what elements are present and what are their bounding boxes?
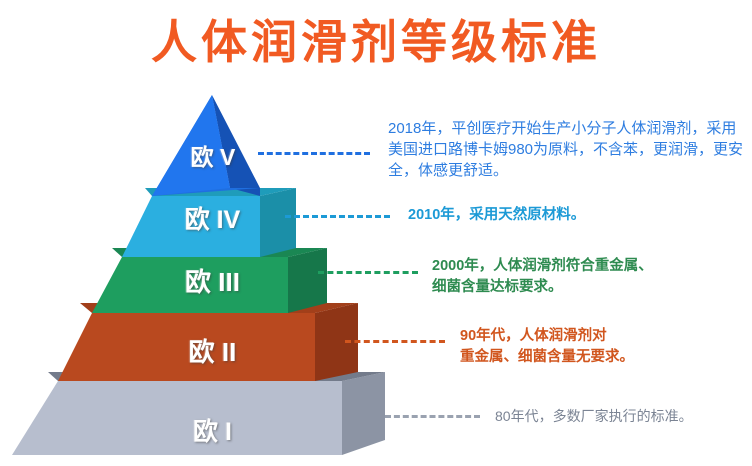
annotation-tier-4: 2010年，采用天然原材料。 (408, 205, 738, 226)
connector-dash-tier-5 (258, 152, 370, 155)
annotation-tier-1: 80年代，多数厂家执行的标准。 (495, 406, 745, 427)
tier-label-3: 欧 III (120, 262, 305, 299)
connector-dash-tier-1 (385, 415, 480, 418)
connector-dash-tier-2 (345, 340, 445, 343)
infographic-canvas: 人体润滑剂等级标准 (0, 0, 752, 466)
tier-label-1: 欧 I (70, 412, 355, 448)
annotation-tier-3: 2000年，人体润滑剂符合重金属、 细菌含量达标要求。 (432, 256, 742, 298)
annotation-tier-2: 90年代，人体润滑剂对 重金属、细菌含量无要求。 (460, 326, 745, 368)
connector-dash-tier-3 (318, 271, 418, 274)
tier-label-5: 欧 V (158, 138, 268, 172)
tier-label-4: 欧 IV (140, 200, 285, 236)
tier-label-2: 欧 II (100, 332, 325, 369)
connector-dash-tier-4 (285, 215, 390, 218)
annotation-tier-5: 2018年，平创医疗开始生产小分子人体润滑剂，采用美国进口路博卡姆980为原料，… (388, 118, 744, 181)
